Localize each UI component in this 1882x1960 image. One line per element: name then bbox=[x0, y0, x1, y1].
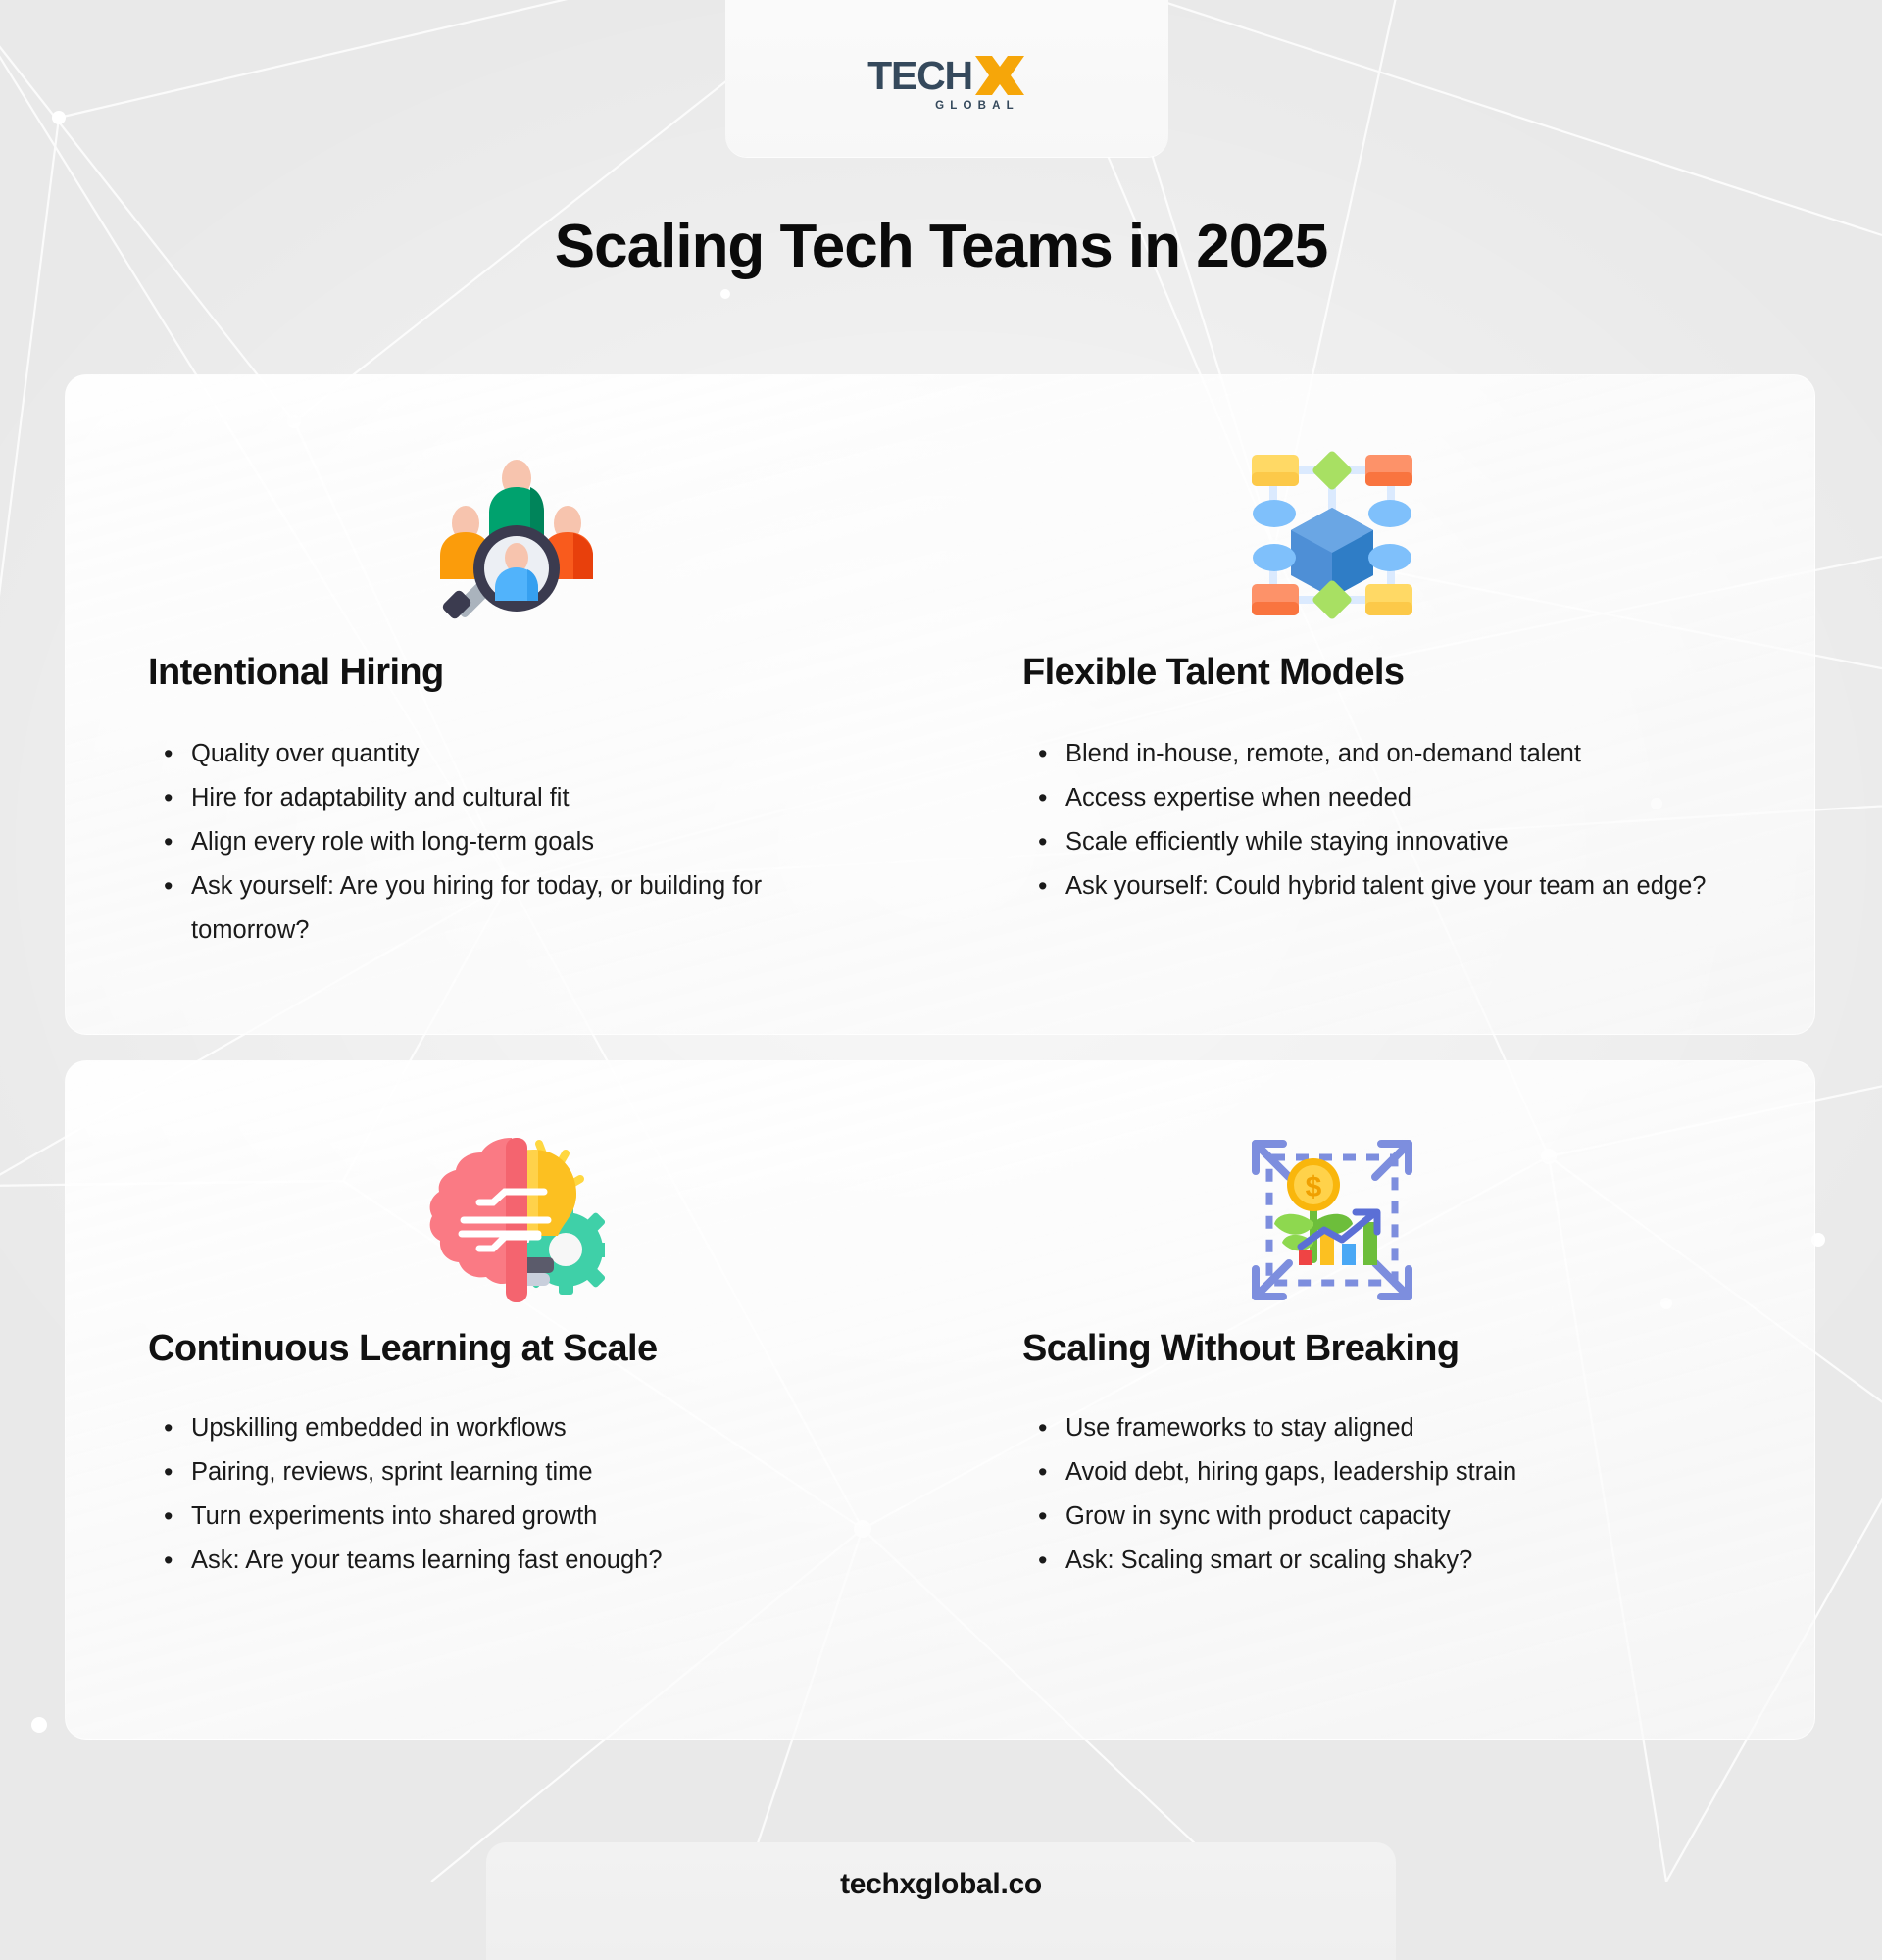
feature-continuous-learning: Continuous Learning at Scale Upskilling … bbox=[107, 1061, 860, 1739]
list-item: Upskilling embedded in workflows bbox=[156, 1406, 803, 1450]
footer-bar: techxglobal.co bbox=[486, 1842, 1396, 1960]
list-item: Avoid debt, hiring gaps, leadership stra… bbox=[1030, 1450, 1716, 1494]
list-item: Use frameworks to stay aligned bbox=[1030, 1406, 1716, 1450]
card-bullet-list: Blend in-house, remote, and on-demand ta… bbox=[1030, 732, 1716, 908]
list-item: Ask: Are your teams learning fast enough… bbox=[156, 1539, 803, 1583]
list-item: Quality over quantity bbox=[156, 732, 783, 776]
list-item: Turn experiments into shared growth bbox=[156, 1494, 803, 1539]
card-title: Flexible Talent Models bbox=[1022, 652, 1404, 694]
website-url[interactable]: techxglobal.co bbox=[840, 1868, 1042, 1901]
feature-intentional-hiring: Intentional Hiring Quality over quantity… bbox=[107, 375, 860, 1034]
logo-wordmark-global: GLOBAL bbox=[935, 100, 1019, 112]
list-item: Ask yourself: Are you hiring for today, … bbox=[156, 864, 783, 953]
list-item: Align every role with long-term goals bbox=[156, 820, 783, 864]
page-title: Scaling Tech Teams in 2025 bbox=[0, 212, 1882, 281]
list-item: Ask yourself: Could hybrid talent give y… bbox=[1030, 864, 1716, 908]
network-nodes-icon bbox=[1244, 447, 1420, 623]
brain-bulb-gear-icon bbox=[428, 1132, 605, 1308]
feature-scaling-without-breaking: $ Scaling Without Breaking Use framework… bbox=[1052, 1061, 1805, 1739]
feature-flexible-talent-models: Flexible Talent Models Blend in-house, r… bbox=[1052, 375, 1805, 1034]
list-item: Ask: Scaling smart or scaling shaky? bbox=[1030, 1539, 1716, 1583]
team-search-icon bbox=[428, 452, 605, 628]
card-bullet-list: Quality over quantity Hire for adaptabil… bbox=[156, 732, 783, 953]
card-title: Intentional Hiring bbox=[148, 652, 444, 694]
card-title: Scaling Without Breaking bbox=[1022, 1328, 1460, 1370]
logo-wordmark-tech: TECH bbox=[867, 56, 972, 96]
svg-text:$: $ bbox=[1306, 1171, 1322, 1203]
techx-global-logo: TECH GLOBAL bbox=[867, 55, 1026, 112]
card-bullet-list: Use frameworks to stay aligned Avoid deb… bbox=[1030, 1406, 1716, 1583]
list-item: Blend in-house, remote, and on-demand ta… bbox=[1030, 732, 1716, 776]
card-bullet-list: Upskilling embedded in workflows Pairing… bbox=[156, 1406, 803, 1583]
list-item: Hire for adaptability and cultural fit bbox=[156, 776, 783, 820]
card-row-bottom: Continuous Learning at Scale Upskilling … bbox=[65, 1060, 1815, 1739]
growth-scale-icon: $ bbox=[1244, 1132, 1420, 1308]
card-title: Continuous Learning at Scale bbox=[148, 1328, 658, 1370]
list-item: Scale efficiently while staying innovati… bbox=[1030, 820, 1716, 864]
list-item: Pairing, reviews, sprint learning time bbox=[156, 1450, 803, 1494]
list-item: Access expertise when needed bbox=[1030, 776, 1716, 820]
card-row-top: Intentional Hiring Quality over quantity… bbox=[65, 374, 1815, 1035]
logo-x-icon bbox=[973, 55, 1026, 96]
list-item: Grow in sync with product capacity bbox=[1030, 1494, 1716, 1539]
brand-logo-tab: TECH GLOBAL bbox=[725, 0, 1168, 157]
